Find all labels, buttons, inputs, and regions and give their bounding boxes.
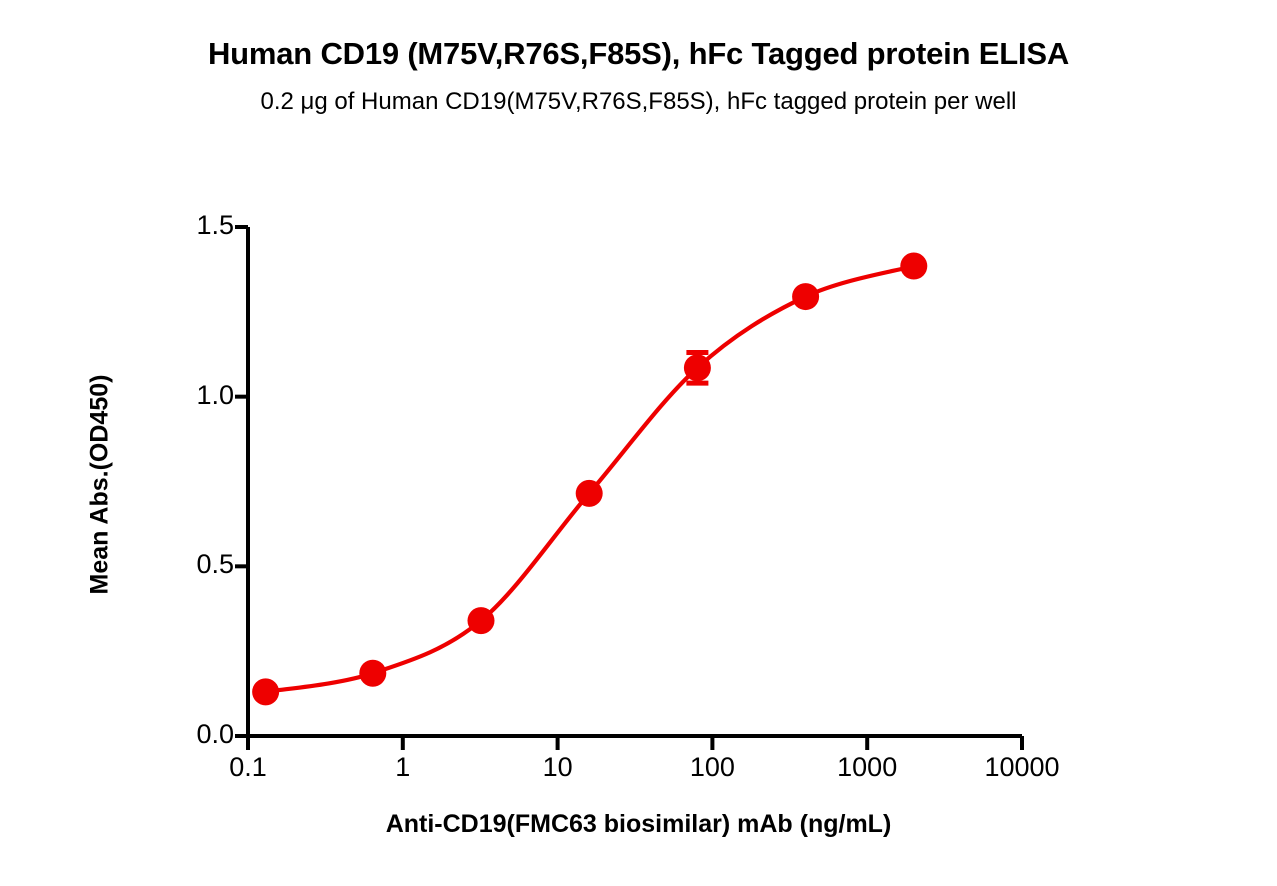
x-tick-label: 100 <box>642 752 782 783</box>
tick-marks <box>235 227 1022 750</box>
data-point <box>467 607 494 634</box>
data-point <box>684 354 711 381</box>
y-tick-label: 1.5 <box>164 210 234 241</box>
x-tick-label: 1000 <box>797 752 937 783</box>
data-point <box>900 253 927 280</box>
fit-curve <box>266 266 914 692</box>
y-axis-label: Mean Abs.(OD450) <box>86 325 115 645</box>
x-tick-label: 0.1 <box>178 752 318 783</box>
data-point <box>252 678 279 705</box>
x-axis-tick-labels: 0.1110100100010000 <box>0 752 1277 798</box>
data-point <box>576 480 603 507</box>
axis-lines <box>248 227 1022 736</box>
data-point <box>359 660 386 687</box>
y-tick-label: 0.5 <box>164 549 234 580</box>
x-axis-label: Anti-CD19(FMC63 biosimilar) mAb (ng/mL) <box>0 810 1277 839</box>
y-tick-label: 1.0 <box>164 380 234 411</box>
y-tick-label: 0.0 <box>164 719 234 750</box>
x-tick-label: 10 <box>488 752 628 783</box>
x-tick-label: 10000 <box>952 752 1092 783</box>
data-point <box>792 283 819 310</box>
data-points <box>252 253 927 706</box>
x-tick-label: 1 <box>333 752 473 783</box>
